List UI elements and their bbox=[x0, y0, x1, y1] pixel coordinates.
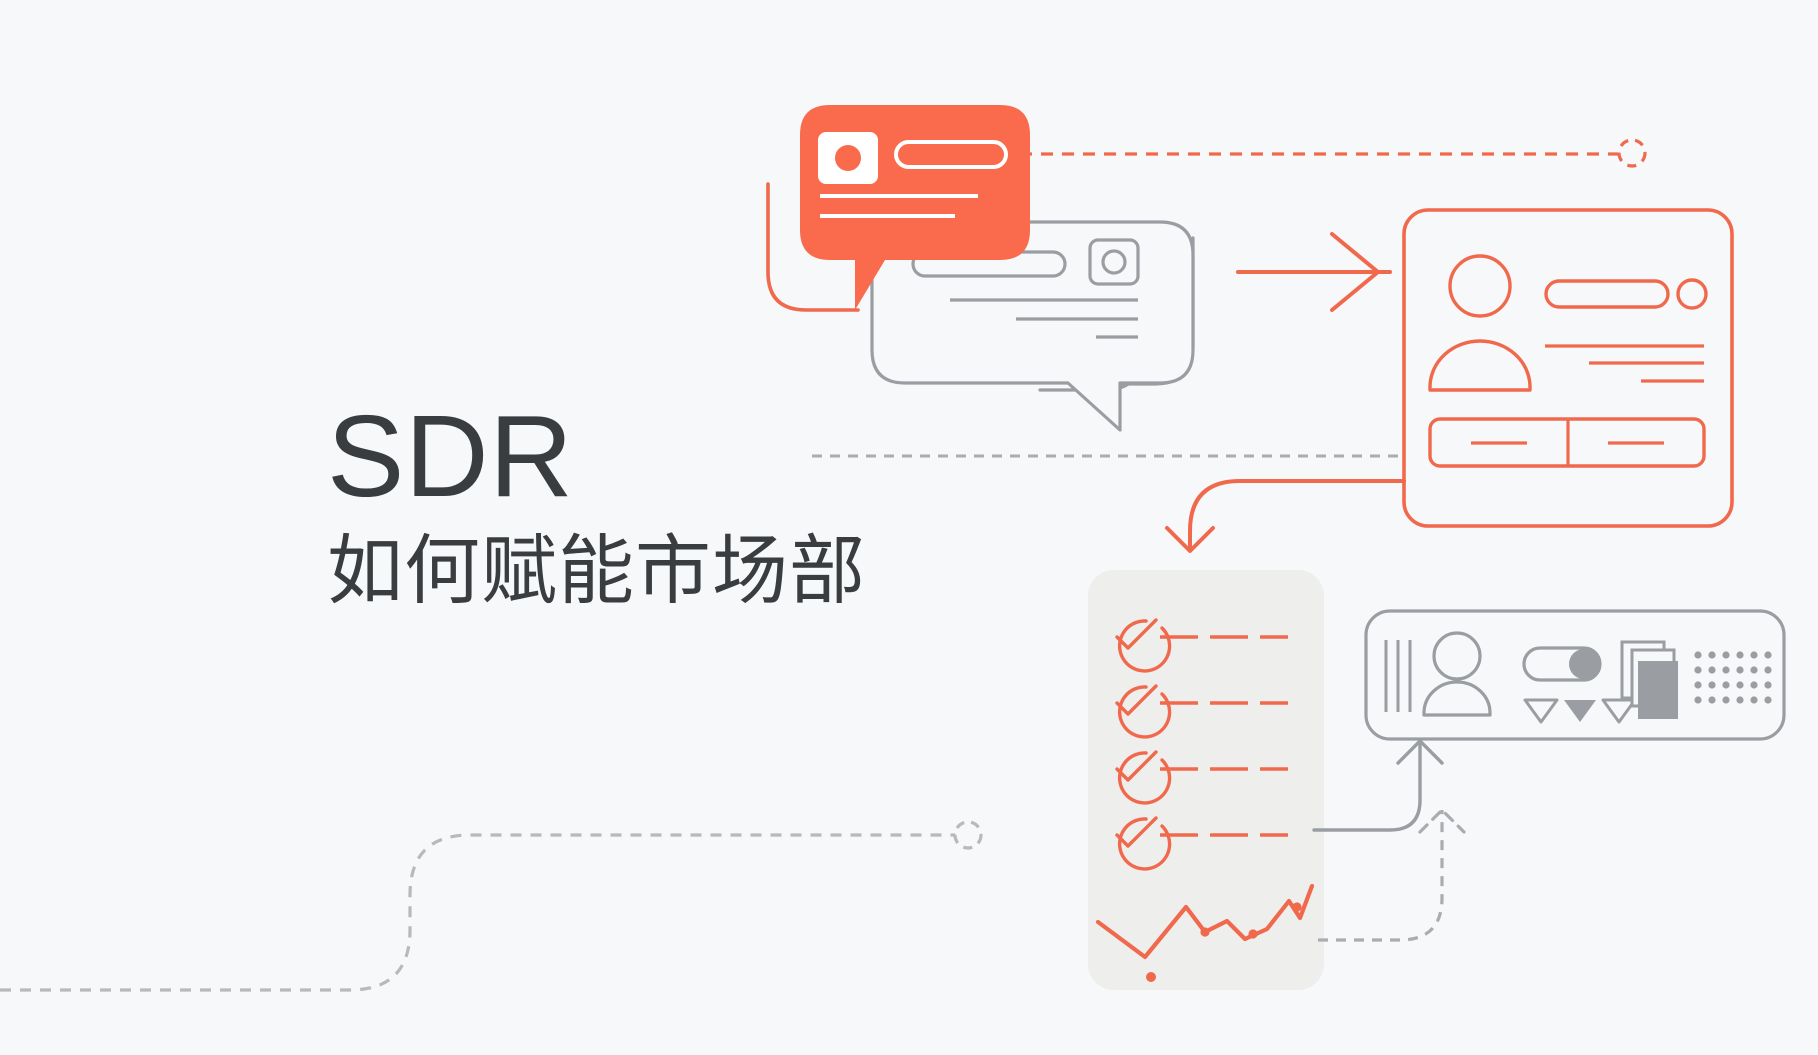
illustration-canvas: SDR 如何赋能市场部 bbox=[0, 0, 1818, 1055]
toggle-knob[interactable] bbox=[1569, 649, 1599, 679]
profile-card-frame bbox=[1404, 210, 1732, 526]
trend-marker bbox=[1292, 902, 1301, 911]
heading-block: SDR 如何赋能市场部 bbox=[327, 398, 1027, 613]
orange-profile-card[interactable] bbox=[1404, 210, 1732, 526]
gray-toolbar-widget[interactable] bbox=[1366, 611, 1784, 739]
checklist-card[interactable] bbox=[1088, 570, 1324, 990]
trend-marker bbox=[1248, 929, 1257, 938]
orange-bubble-avatar-dot bbox=[835, 145, 861, 171]
trend-origin-dot bbox=[1146, 972, 1156, 982]
page-subtitle: 如何赋能市场部 bbox=[327, 528, 1027, 613]
page-title: SDR bbox=[327, 398, 1027, 514]
trend-marker bbox=[1200, 927, 1209, 936]
page-front bbox=[1638, 661, 1678, 719]
